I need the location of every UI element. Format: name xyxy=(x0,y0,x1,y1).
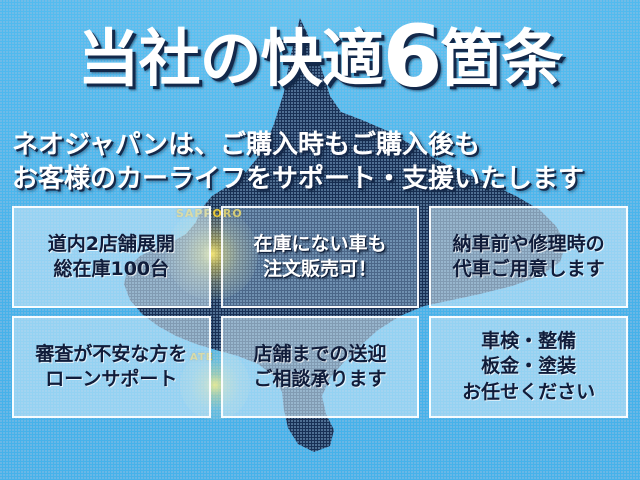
headline-after: 箇条 xyxy=(440,22,562,95)
headline-number: 6 xyxy=(383,7,441,107)
feature-grid: 道内2店舗展開 総在庫100台 在庫にない車も 注文販売可！ 納車前や修理時の … xyxy=(12,206,628,418)
feature-box-6: 車検・整備 板金・塗装 お任せください xyxy=(429,316,628,418)
feature-box-4: 審査が不安な方を ローンサポート xyxy=(12,316,211,418)
feature-line: ご相談承ります xyxy=(253,367,386,392)
feature-line: 店舗までの送迎 xyxy=(253,342,386,367)
feature-box-1: 道内2店舗展開 総在庫100台 xyxy=(12,206,211,308)
subtitle: ネオジャパンは、ご購入時もご購入後も お客様のカーライフをサポート・支援いたしま… xyxy=(12,128,632,197)
feature-line: お任せください xyxy=(462,380,595,405)
feature-box-2: 在庫にない車も 注文販売可！ xyxy=(221,206,420,308)
feature-line: 総在庫100台 xyxy=(48,257,175,282)
feature-box-5-text: 店舗までの送迎 ご相談承ります xyxy=(253,342,386,393)
feature-box-3: 納車前や修理時の 代車ご用意します xyxy=(429,206,628,308)
feature-line: 道内2店舗展開 xyxy=(48,232,175,257)
feature-line: ローンサポート xyxy=(35,367,187,392)
feature-box-3-text: 納車前や修理時の 代車ご用意します xyxy=(453,232,605,283)
feature-box-1-text: 道内2店舗展開 総在庫100台 xyxy=(48,232,175,283)
feature-line: 板金・塗装 xyxy=(462,354,595,379)
feature-line: 審査が不安な方を xyxy=(35,342,187,367)
subtitle-line-2: お客様のカーライフをサポート・支援いたします xyxy=(12,162,632,196)
headline-before: 当社の快適 xyxy=(78,22,383,95)
headline: 当社の快適6箇条 xyxy=(0,14,640,100)
feature-box-6-text: 車検・整備 板金・塗装 お任せください xyxy=(462,329,595,405)
subtitle-line-1: ネオジャパンは、ご購入時もご購入後も xyxy=(12,128,632,162)
feature-line: 納車前や修理時の xyxy=(453,232,605,257)
feature-box-4-text: 審査が不安な方を ローンサポート xyxy=(35,342,187,393)
feature-box-2-text: 在庫にない車も 注文販売可！ xyxy=(253,232,386,283)
feature-line: 代車ご用意します xyxy=(453,257,605,282)
advertisement-banner: SAPPORO ATE 当社の快適6箇条 ネオジャパンは、ご購入時もご購入後も … xyxy=(0,0,640,480)
feature-line: 在庫にない車も xyxy=(253,232,386,257)
feature-line: 車検・整備 xyxy=(462,329,595,354)
feature-box-5: 店舗までの送迎 ご相談承ります xyxy=(221,316,420,418)
feature-line: 注文販売可！ xyxy=(253,257,386,282)
